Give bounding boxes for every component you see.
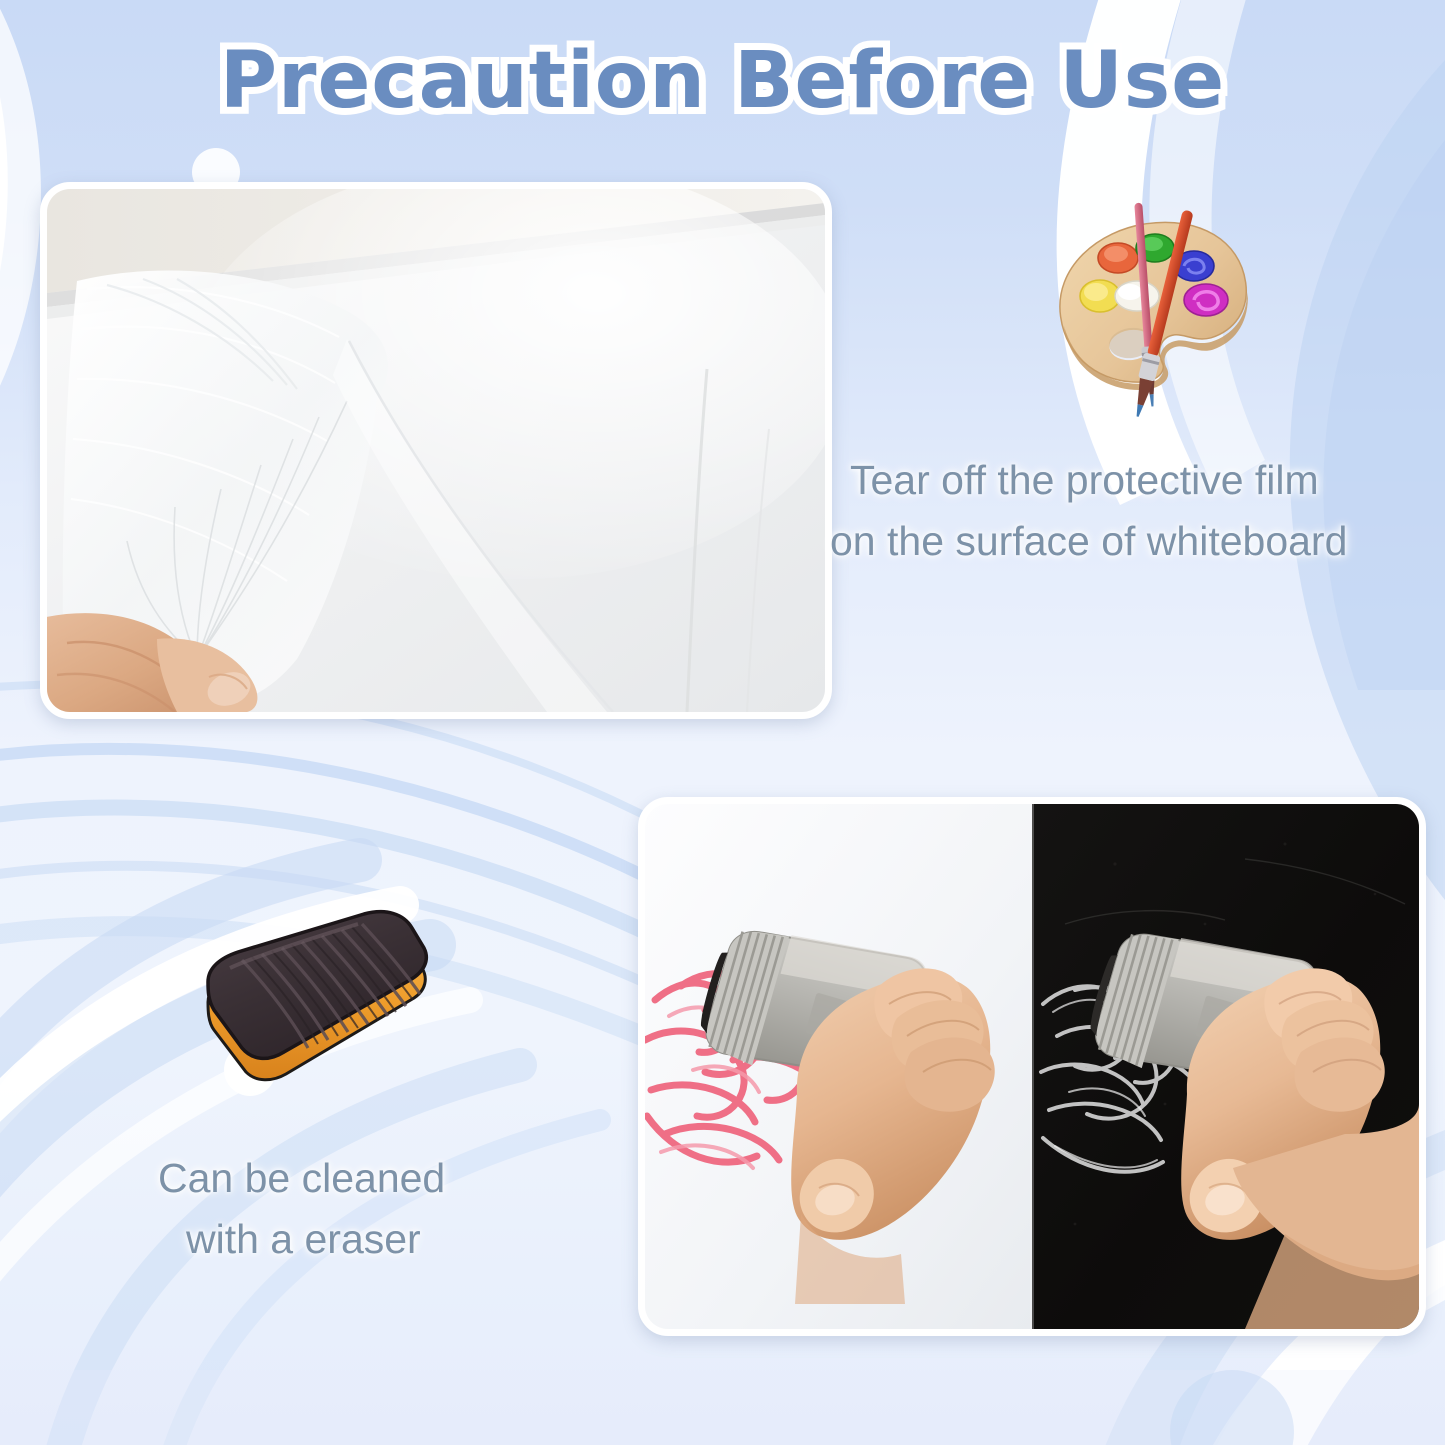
caption-protective-film: Tear off the protective film on the surf… <box>850 450 1347 571</box>
photo-erase-comparison <box>638 797 1426 1336</box>
caption-line: with a eraser <box>186 1209 445 1270</box>
paint-palette-icon <box>1030 196 1270 426</box>
photo-peel-protective-film <box>40 182 832 719</box>
caption-line: Can be cleaned <box>158 1148 445 1209</box>
caption-line: Tear off the protective film <box>850 450 1347 511</box>
page-title: Precaution Before Use <box>0 36 1445 126</box>
whiteboard-eraser-icon <box>186 906 454 1116</box>
caption-line: on the surface of whiteboard <box>830 511 1347 572</box>
infographic-root: Precaution Before Use <box>0 0 1445 1445</box>
caption-cleaning: Can be cleaned with a eraser <box>158 1148 445 1269</box>
